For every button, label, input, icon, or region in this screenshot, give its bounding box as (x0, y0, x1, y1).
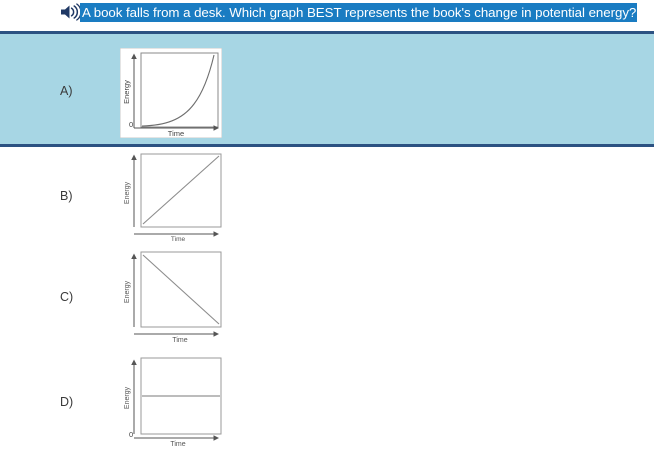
option-row-c[interactable]: C) Time Energy (0, 248, 654, 350)
svg-text:Time: Time (171, 236, 186, 241)
question-text: A book falls from a desk. Which graph BE… (80, 3, 637, 22)
option-row-d[interactable]: D) 0 Time Energy (0, 350, 654, 455)
svg-text:Energy: Energy (124, 386, 131, 409)
option-graph-c: Time Energy (120, 248, 222, 343)
option-row-a[interactable]: A) 0 Time Energy (0, 31, 654, 147)
svg-text:Time: Time (168, 129, 184, 138)
svg-text:Energy: Energy (122, 80, 131, 104)
svg-text:Time: Time (172, 337, 187, 343)
option-graph-a: 0 Time Energy (120, 48, 222, 138)
svg-text:0: 0 (129, 120, 133, 129)
question-bar: A book falls from a desk. Which graph BE… (0, 0, 654, 28)
option-row-b[interactable]: B) Time Energy (0, 147, 654, 248)
options-list: A) 0 Time Energy (0, 31, 654, 455)
svg-text:Time: Time (170, 441, 185, 448)
question-page: A book falls from a desk. Which graph BE… (0, 0, 654, 468)
option-letter-a: A) (60, 84, 73, 98)
option-letter-d: D) (60, 395, 73, 409)
chart-linear-decrease: Time Energy (120, 248, 222, 343)
option-graph-b: Time Energy (120, 149, 222, 241)
option-graph-d: 0 Time Energy (120, 354, 222, 448)
svg-text:Energy: Energy (124, 181, 131, 204)
svg-text:Energy: Energy (124, 280, 131, 303)
option-letter-c: C) (60, 290, 73, 304)
speaker-icon[interactable] (59, 3, 81, 21)
chart-constant: 0 Time Energy (120, 354, 222, 448)
chart-linear-increase: Time Energy (120, 149, 222, 241)
svg-text:0: 0 (129, 430, 133, 439)
chart-exponential-increase: 0 Time Energy (120, 48, 222, 138)
option-letter-b: B) (60, 189, 73, 203)
